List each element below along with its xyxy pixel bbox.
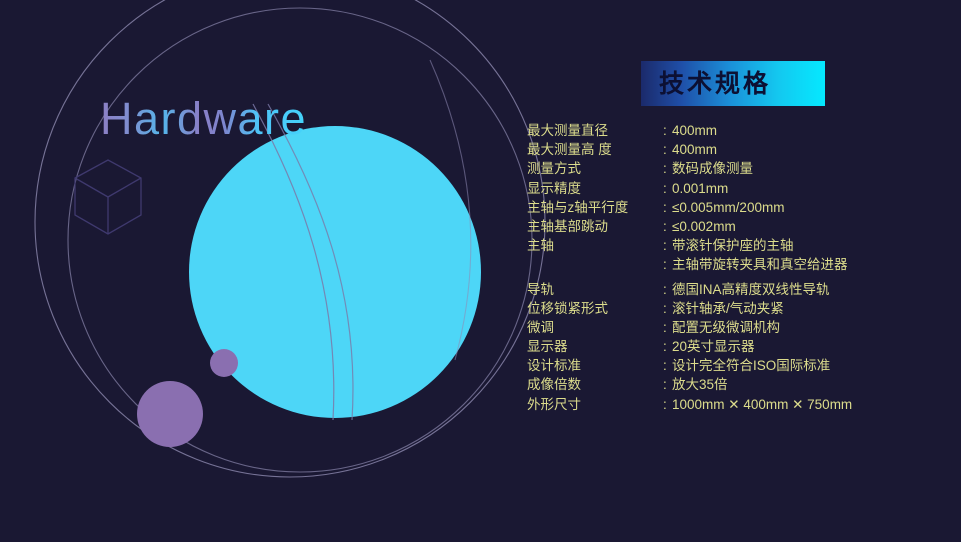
spec-label: 显示精度 (527, 179, 663, 198)
section-banner-title: 技术规格 (659, 70, 771, 98)
spec-row: 显示器:20英寸显示器 (527, 337, 927, 356)
spec-label: 位移锁紧形式 (527, 299, 663, 318)
spec-separator: : (663, 255, 672, 274)
spec-value: 400mm (672, 121, 927, 140)
arc-ring-outer (35, 0, 545, 477)
arc-ring-inner (68, 8, 532, 472)
spec-label: 导轨 (527, 280, 663, 299)
spec-value: 带滚针保护座的主轴 (672, 236, 927, 255)
spec-label: 主轴 (527, 236, 663, 255)
spec-label: 主轴基部跳动 (527, 217, 663, 236)
purple-circle-large (137, 381, 203, 447)
cyan-circle-shape (189, 126, 481, 418)
spec-value: 主轴带旋转夹具和真空给进器 (672, 255, 927, 274)
spec-value: 配置无级微调机构 (672, 318, 927, 337)
spec-row: :主轴带旋转夹具和真空给进器 (527, 255, 927, 274)
spec-separator: : (663, 318, 672, 337)
spec-row: 成像倍数:放大35倍 (527, 375, 927, 394)
spec-separator: : (663, 236, 672, 255)
spec-label: 最大测量直径 (527, 121, 663, 140)
spec-value: ≤0.005mm/200mm (672, 198, 927, 217)
spec-separator: : (663, 280, 672, 299)
spec-separator: : (663, 337, 672, 356)
spec-row: 位移锁紧形式:滚针轴承/气动夹紧 (527, 299, 927, 318)
spec-value: 德国INA高精度双线性导轨 (672, 280, 927, 299)
spec-value: 放大35倍 (672, 375, 927, 394)
spec-separator: : (663, 395, 672, 414)
spec-label: 设计标准 (527, 356, 663, 375)
spec-value: 1000mm ✕ 400mm ✕ 750mm (672, 395, 927, 414)
spec-value: 0.001mm (672, 179, 927, 198)
spec-separator: : (663, 356, 672, 375)
spec-row: 主轴与z轴平行度:≤0.005mm/200mm (527, 198, 927, 217)
spec-row: 主轴:带滚针保护座的主轴 (527, 236, 927, 255)
spec-row: 最大测量直径:400mm (527, 121, 927, 140)
page-title: Hardware (100, 96, 307, 141)
spec-separator: : (663, 375, 672, 394)
spec-label: 最大测量高 度 (527, 140, 663, 159)
spec-separator: : (663, 159, 672, 178)
spec-separator: : (663, 121, 672, 140)
spec-label: 成像倍数 (527, 375, 663, 394)
spec-value: 数码成像测量 (672, 159, 927, 178)
spec-label: 外形尺寸 (527, 395, 663, 414)
spec-value: 设计完全符合ISO国际标准 (672, 356, 927, 375)
spec-row: 导轨:德国INA高精度双线性导轨 (527, 280, 927, 299)
spec-row: 显示精度:0.001mm (527, 179, 927, 198)
spec-label: 微调 (527, 318, 663, 337)
spec-value: 滚针轴承/气动夹紧 (672, 299, 927, 318)
spec-value: 20英寸显示器 (672, 337, 927, 356)
specifications-table: 最大测量直径:400mm最大测量高 度:400mm测量方式:数码成像测量显示精度… (527, 121, 927, 414)
spec-separator: : (663, 140, 672, 159)
wireframe-cube-icon (75, 160, 141, 234)
spec-value: ≤0.002mm (672, 217, 927, 236)
spec-separator: : (663, 217, 672, 236)
spec-separator: : (663, 299, 672, 318)
spec-row: 最大测量高 度:400mm (527, 140, 927, 159)
spec-label: 测量方式 (527, 159, 663, 178)
spec-label: 主轴与z轴平行度 (527, 198, 663, 217)
spec-value: 400mm (672, 140, 927, 159)
spec-row: 主轴基部跳动:≤0.002mm (527, 217, 927, 236)
slide-canvas: Hardware 技术规格 最大测量直径:400mm最大测量高 度:400mm测… (0, 0, 961, 542)
spec-row: 微调:配置无级微调机构 (527, 318, 927, 337)
purple-dot-small (210, 349, 238, 377)
spec-separator: : (663, 198, 672, 217)
spec-label: 显示器 (527, 337, 663, 356)
spec-row: 外形尺寸:1000mm ✕ 400mm ✕ 750mm (527, 395, 927, 414)
spec-row: 设计标准:设计完全符合ISO国际标准 (527, 356, 927, 375)
spec-separator: : (663, 179, 672, 198)
spec-row: 测量方式:数码成像测量 (527, 159, 927, 178)
